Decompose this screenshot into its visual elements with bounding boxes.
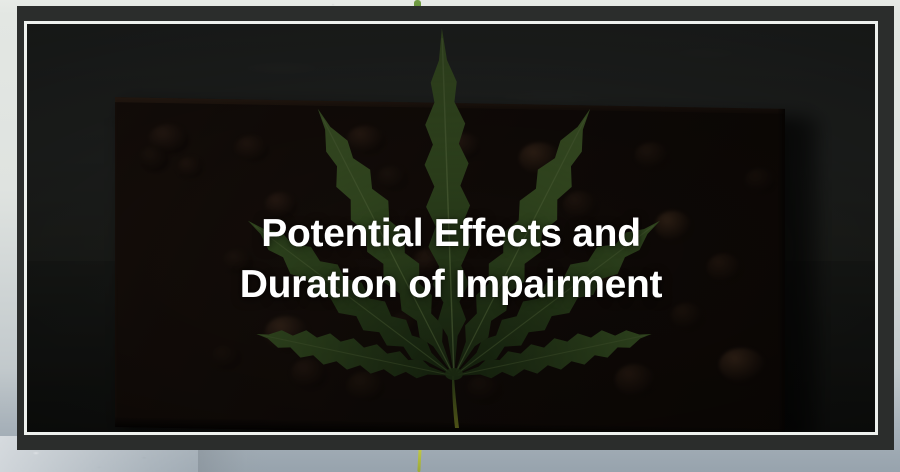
page-title: Potential Effects and Duration of Impair…	[27, 208, 875, 310]
hero-photo: Potential Effects and Duration of Impair…	[27, 24, 875, 432]
page-title-line-2: Duration of Impairment	[27, 259, 875, 310]
frame-inner-border: Potential Effects and Duration of Impair…	[24, 21, 878, 435]
page-title-line-1: Potential Effects and	[27, 208, 875, 259]
banner-hero: Potential Effects and Duration of Impair…	[0, 0, 900, 472]
